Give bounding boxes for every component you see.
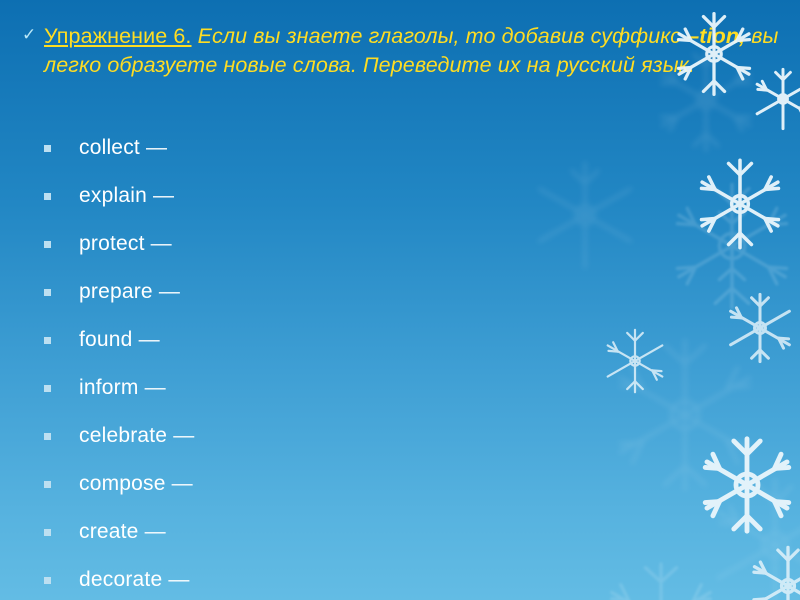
square-bullet-icon xyxy=(44,289,51,296)
square-bullet-icon xyxy=(44,385,51,392)
verb-text: collect — xyxy=(79,136,167,160)
list-item: explain — xyxy=(44,172,464,220)
list-item: decorate — xyxy=(44,556,464,600)
list-item: collect — xyxy=(44,124,464,172)
list-item: prepare — xyxy=(44,268,464,316)
square-bullet-icon xyxy=(44,577,51,584)
list-item: compose — xyxy=(44,460,464,508)
verb-list: collect — explain — protect — prepare — … xyxy=(44,124,464,600)
slide-content: ✓ Упражнение 6. Если вы знаете глаголы, … xyxy=(0,0,800,600)
exercise-label: Упражнение 6. xyxy=(44,24,192,48)
exercise-heading-text: Упражнение 6. Если вы знаете глаголы, то… xyxy=(44,22,782,80)
square-bullet-icon xyxy=(44,145,51,152)
list-item: celebrate — xyxy=(44,412,464,460)
verb-text: explain — xyxy=(79,184,174,208)
suffix-tion: –tion, xyxy=(687,24,745,48)
verb-text: decorate — xyxy=(79,568,190,592)
verb-text: found — xyxy=(79,328,160,352)
square-bullet-icon xyxy=(44,241,51,248)
verb-text: compose — xyxy=(79,472,193,496)
presentation-slide: ✓ Упражнение 6. Если вы знаете глаголы, … xyxy=(0,0,800,600)
verb-text: inform — xyxy=(79,376,166,400)
square-bullet-icon xyxy=(44,529,51,536)
list-item: found — xyxy=(44,316,464,364)
list-item: inform — xyxy=(44,364,464,412)
exercise-heading: ✓ Упражнение 6. Если вы знаете глаголы, … xyxy=(22,22,782,80)
verb-text: protect — xyxy=(79,232,172,256)
verb-text: create — xyxy=(79,520,166,544)
square-bullet-icon xyxy=(44,433,51,440)
square-bullet-icon xyxy=(44,193,51,200)
exercise-instruction-part-1: Если вы знаете глаголы, то добавив суффи… xyxy=(192,24,688,48)
checkmark-icon: ✓ xyxy=(22,26,44,43)
verb-text: prepare — xyxy=(79,280,180,304)
list-item: protect — xyxy=(44,220,464,268)
square-bullet-icon xyxy=(44,337,51,344)
square-bullet-icon xyxy=(44,481,51,488)
list-item: create — xyxy=(44,508,464,556)
verb-text: celebrate — xyxy=(79,424,194,448)
